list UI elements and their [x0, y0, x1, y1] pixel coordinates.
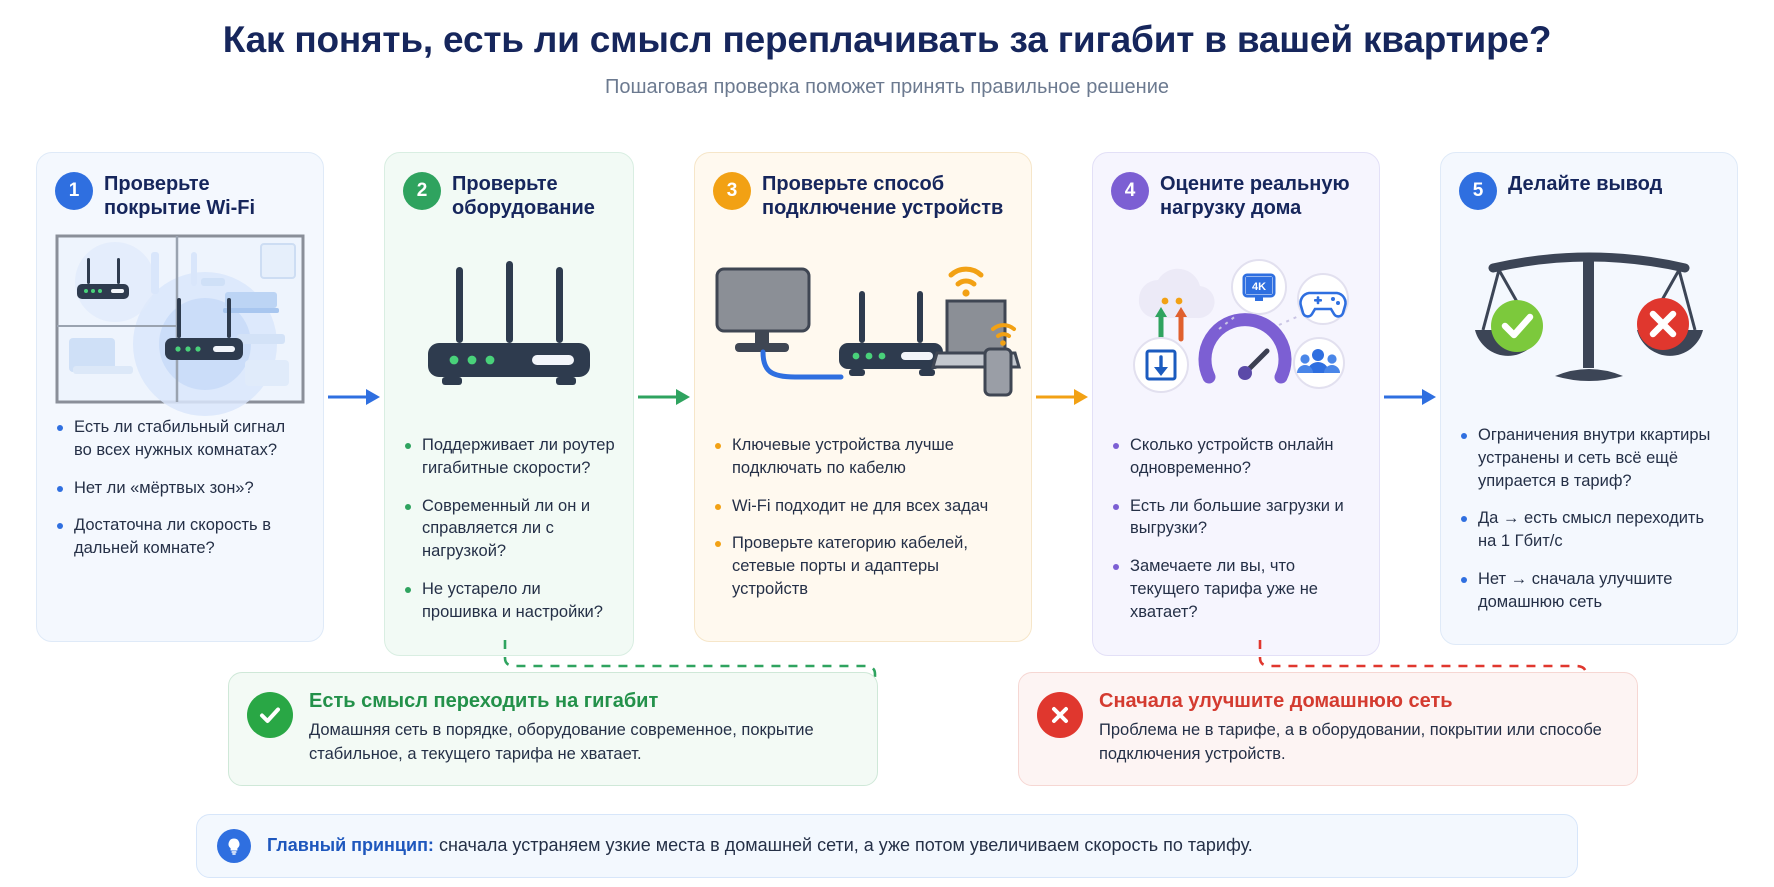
step-3-title: Проверьте способ подключение устройств	[762, 171, 1013, 220]
list-item: Нет ли «мёртвых зон»?	[55, 477, 305, 500]
page-title: Как понять, есть ли смысл переплачивать …	[0, 18, 1774, 62]
step-4-title: Оцените реальную нагрузку дома	[1160, 171, 1361, 220]
lightbulb-icon	[217, 829, 251, 863]
arrow-3-to-4	[1032, 152, 1092, 642]
step-card-4[interactable]: 4 Оцените реальную нагрузку дома	[1092, 152, 1380, 656]
speed-gauge-load-icon: 4K	[1111, 230, 1361, 426]
verdict-bad-text: Проблема не в тарифе, а в оборудовании, …	[1099, 719, 1615, 767]
verdict-good-body: Есть смысл переходить на гигабит Домашня…	[309, 689, 855, 767]
step-card-2[interactable]: 2 Проверьте оборудование Под	[384, 152, 634, 656]
verdict-card-good[interactable]: Есть смысл переходить на гигабит Домашня…	[228, 672, 878, 786]
svg-text:4K: 4K	[1252, 281, 1266, 293]
step-4-header: 4 Оцените реальную нагрузку дома	[1111, 171, 1361, 220]
verdict-good-text: Домашняя сеть в порядке, оборудование со…	[309, 719, 855, 767]
list-item: Современный ли он и справляется ли с наг…	[403, 495, 615, 563]
step-2-header: 2 Проверьте оборудование	[403, 171, 615, 220]
step-1-title: Проверьте покрытие Wi-Fi	[104, 171, 305, 220]
verdict-bad-title: Сначала улучшите домашнюю сеть	[1099, 689, 1615, 713]
cross-circle-icon	[1037, 692, 1083, 738]
verdict-bad-body: Сначала улучшите домашнюю сеть Проблема …	[1099, 689, 1615, 767]
list-item: Wi-Fi подходит не для всех задач	[713, 495, 1013, 518]
list-item: Поддерживает ли роутер гигабитные скорос…	[403, 434, 615, 480]
list-item: Сколько устройств онлайн одновременно?	[1111, 434, 1361, 480]
step-5-bullets: Ограничения внутри ккартиры устранены и …	[1459, 424, 1719, 628]
step-2-number-badge: 2	[403, 172, 441, 210]
header: Как понять, есть ли смысл переплачивать …	[0, 0, 1774, 99]
list-item: Ограничения внутри ккартиры устранены и …	[1459, 424, 1719, 492]
balance-scales-icon	[1459, 220, 1719, 416]
arrow-1-to-2	[324, 152, 384, 642]
list-item: Ключевые устройства лучше подключать по …	[713, 434, 1013, 480]
step-1-header: 1 Проверьте покрытие Wi-Fi	[55, 171, 305, 220]
footer-note[interactable]: Главный принцип: сначала устраняем узкие…	[196, 814, 1578, 878]
page-subtitle: Пошаговая проверка поможет принять прави…	[0, 76, 1774, 99]
step-1-number-badge: 1	[55, 172, 93, 210]
step-4-number-badge: 4	[1111, 172, 1149, 210]
floorplan-wifi-coverage-icon	[55, 230, 305, 408]
arrow-2-to-3	[634, 152, 694, 642]
list-item: Нет → сначала улучшите домашнюю сеть	[1459, 568, 1719, 614]
devices-connection-icon	[713, 230, 1013, 426]
list-item: Есть ли стабильный сигнал во всех нужных…	[55, 416, 305, 462]
list-item: Достаточна ли скорость в дальней комнате…	[55, 514, 305, 560]
step-1-bullets: Есть ли стабильный сигнал во всех нужных…	[55, 416, 305, 575]
infographic-page: Как понять, есть ли смысл переплачивать …	[0, 0, 1774, 887]
step-2-title: Проверьте оборудование	[452, 171, 615, 220]
footer-note-strong: Главный принцип:	[267, 835, 434, 855]
list-item: Да → есть смысл переходить на 1 Гбит/с	[1459, 507, 1719, 553]
check-circle-icon	[247, 692, 293, 738]
step-3-header: 3 Проверьте способ подключение устройств	[713, 171, 1013, 220]
step-3-number-badge: 3	[713, 172, 751, 210]
verdict-row: Есть смысл переходить на гигабит Домашня…	[228, 672, 1638, 786]
step-card-5[interactable]: 5 Делайте вывод	[1440, 152, 1738, 645]
step-4-bullets: Сколько устройств онлайн одновременно? Е…	[1111, 434, 1361, 638]
list-item: Не устарело ли прошивка и настройки?	[403, 578, 615, 624]
step-2-bullets: Поддерживает ли роутер гигабитные скорос…	[403, 434, 615, 638]
arrow-4-to-5	[1380, 152, 1440, 642]
list-item: Есть ли большие загрузки и выгрузки?	[1111, 495, 1361, 541]
verdict-card-bad[interactable]: Сначала улучшите домашнюю сеть Проблема …	[1018, 672, 1638, 786]
step-3-bullets: Ключевые устройства лучше подключать по …	[713, 434, 1013, 616]
steps-row: 1 Проверьте покрытие Wi-Fi	[36, 152, 1738, 656]
list-item: Проверьте категорию кабелей, сетевые пор…	[713, 532, 1013, 600]
verdict-good-title: Есть смысл переходить на гигабит	[309, 689, 855, 713]
footer-note-rest: сначала устраняем узкие места в домашней…	[434, 835, 1253, 855]
router-icon	[403, 230, 615, 426]
step-card-1[interactable]: 1 Проверьте покрытие Wi-Fi	[36, 152, 324, 642]
list-item: Замечаете ли вы, что текущего тарифа уже…	[1111, 555, 1361, 623]
step-5-title: Делайте вывод	[1508, 171, 1662, 197]
step-card-3[interactable]: 3 Проверьте способ подключение устройств	[694, 152, 1032, 642]
step-5-header: 5 Делайте вывод	[1459, 171, 1719, 210]
footer-note-text: Главный принцип: сначала устраняем узкие…	[267, 834, 1253, 857]
step-5-number-badge: 5	[1459, 172, 1497, 210]
